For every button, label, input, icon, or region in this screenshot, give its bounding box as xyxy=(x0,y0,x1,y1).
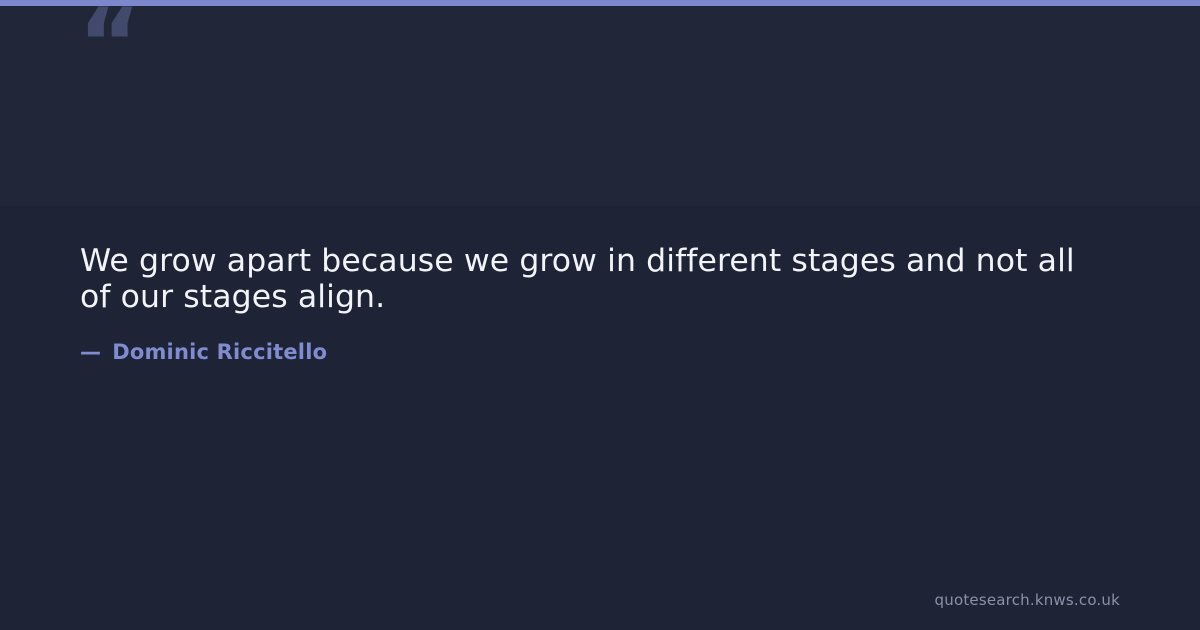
attribution: —Dominic Riccitello xyxy=(80,338,327,366)
background-band-upper xyxy=(0,0,1200,206)
quote-text: We grow apart because we grow in differe… xyxy=(80,243,1110,315)
quote-card: “ We grow apart because we grow in diffe… xyxy=(0,0,1200,630)
attribution-author: Dominic Riccitello xyxy=(112,340,327,364)
attribution-dash: — xyxy=(80,340,101,364)
quotation-mark-icon: “ xyxy=(78,0,139,92)
top-accent-bar xyxy=(0,0,1200,6)
site-watermark: quotesearch.knws.co.uk xyxy=(935,590,1120,610)
